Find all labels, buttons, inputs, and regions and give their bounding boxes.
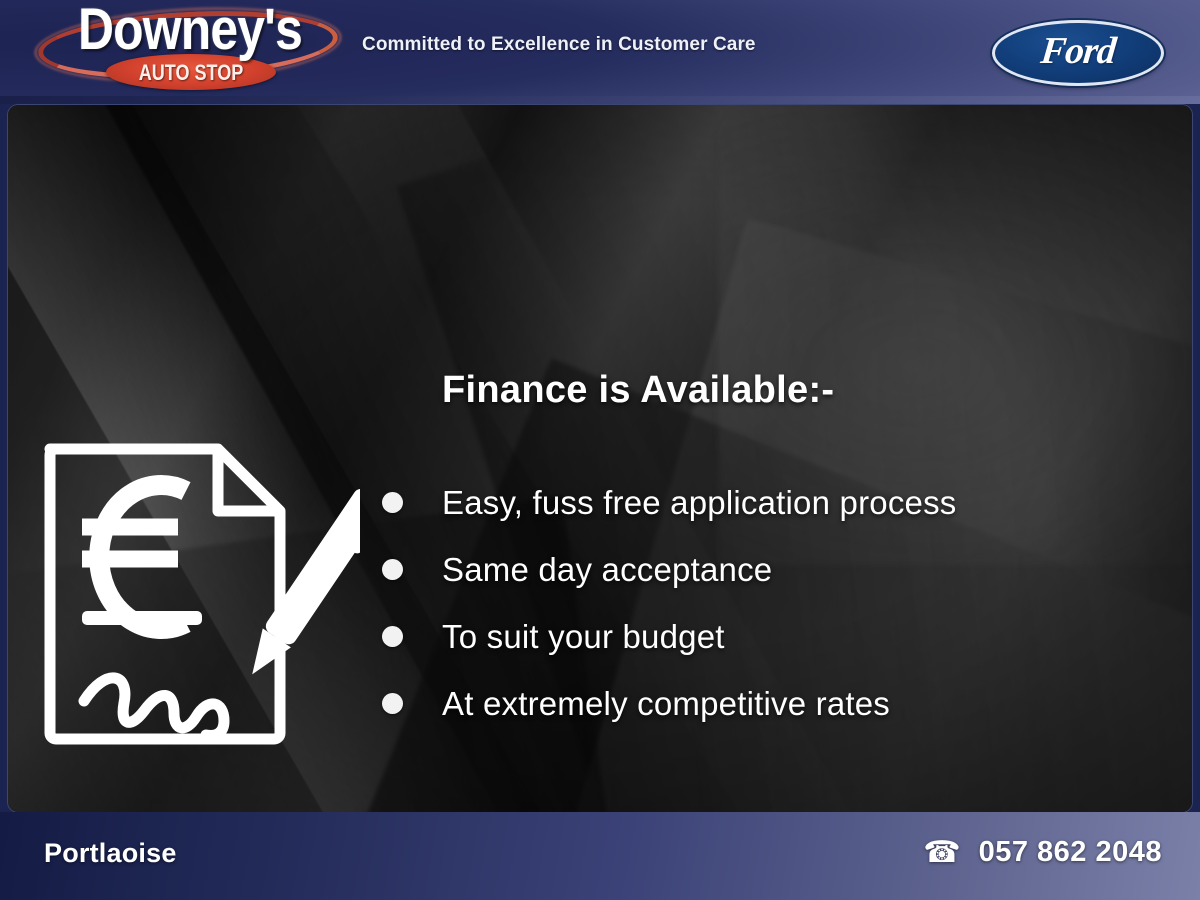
header-bar: Downey's AUTO STOP Committed to Excellen… — [0, 0, 1200, 104]
list-item: At extremely competitive rates — [382, 670, 1172, 737]
advert-banner: Downey's AUTO STOP Committed to Excellen… — [0, 0, 1200, 900]
list-item-label: Same day acceptance — [442, 551, 772, 589]
list-item-label: At extremely competitive rates — [442, 685, 890, 723]
list-item: To suit your budget — [382, 603, 1172, 670]
bullet-dot-icon — [382, 693, 403, 714]
list-item-label: To suit your budget — [442, 618, 725, 656]
bullet-dot-icon — [382, 492, 403, 513]
bullet-dot-icon — [382, 559, 403, 580]
euro-document-signature-icon — [40, 433, 360, 755]
ford-logo[interactable]: Ford — [992, 20, 1164, 86]
telephone-icon: ☎ — [923, 838, 960, 868]
ford-oval-icon: Ford — [992, 20, 1164, 86]
main-panel: Finance is Available:- Easy, fuss free a… — [8, 105, 1192, 812]
branch-location: Portlaoise — [44, 838, 177, 869]
list-item: Same day acceptance — [382, 536, 1172, 603]
dealer-subname: AUTO STOP — [121, 60, 260, 86]
page-title: Finance is Available:- — [442, 369, 834, 412]
finance-benefits-list: Easy, fuss free application process Same… — [382, 469, 1172, 737]
list-item-label: Easy, fuss free application process — [442, 484, 956, 522]
ford-wordmark: Ford — [1039, 29, 1118, 73]
dealer-logo[interactable]: Downey's AUTO STOP — [30, 2, 350, 98]
dealer-name: Downey's — [52, 0, 327, 59]
tagline: Committed to Excellence in Customer Care — [362, 34, 756, 56]
list-item: Easy, fuss free application process — [382, 469, 1172, 536]
phone-number[interactable]: 057 862 2048 — [979, 836, 1162, 869]
contact-phone[interactable]: ☎ 057 862 2048 — [923, 836, 1162, 869]
bullet-dot-icon — [382, 626, 403, 647]
